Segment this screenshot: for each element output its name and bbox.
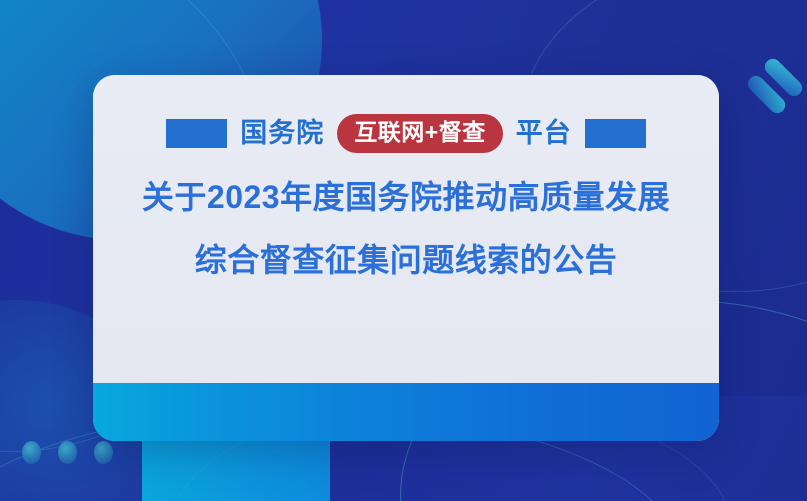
card-footer-bar	[93, 383, 719, 441]
page-title-line-2: 综合督查征集问题线索的公告	[93, 244, 719, 276]
brand-org-label: 国务院	[240, 120, 324, 147]
brand-block-right	[585, 119, 646, 148]
brand-block-left	[166, 119, 227, 148]
card-body: 国务院 互联网+督查 平台 关于2023年度国务院推动高质量发展 综合督查征集问…	[93, 75, 719, 383]
brand-platform-label: 平台	[516, 120, 572, 147]
brand-badge-internet-plus-supervision: 互联网+督查	[337, 114, 502, 153]
decorative-dot-group	[22, 441, 113, 464]
poster-canvas: 国务院 互联网+督查 平台 关于2023年度国务院推动高质量发展 综合督查征集问…	[0, 0, 807, 501]
announcement-card: 国务院 互联网+督查 平台 关于2023年度国务院推动高质量发展 综合督查征集问…	[93, 75, 719, 441]
decorative-dot	[58, 441, 77, 464]
decorative-dot	[22, 441, 41, 464]
page-title-line-1: 关于2023年度国务院推动高质量发展	[93, 181, 719, 213]
platform-diamond-logo-icon	[748, 57, 802, 115]
decorative-dot	[94, 441, 113, 464]
page-title: 关于2023年度国务院推动高质量发展 综合督查征集问题线索的公告	[93, 181, 719, 276]
brand-header-row: 国务院 互联网+督查 平台	[166, 115, 645, 151]
